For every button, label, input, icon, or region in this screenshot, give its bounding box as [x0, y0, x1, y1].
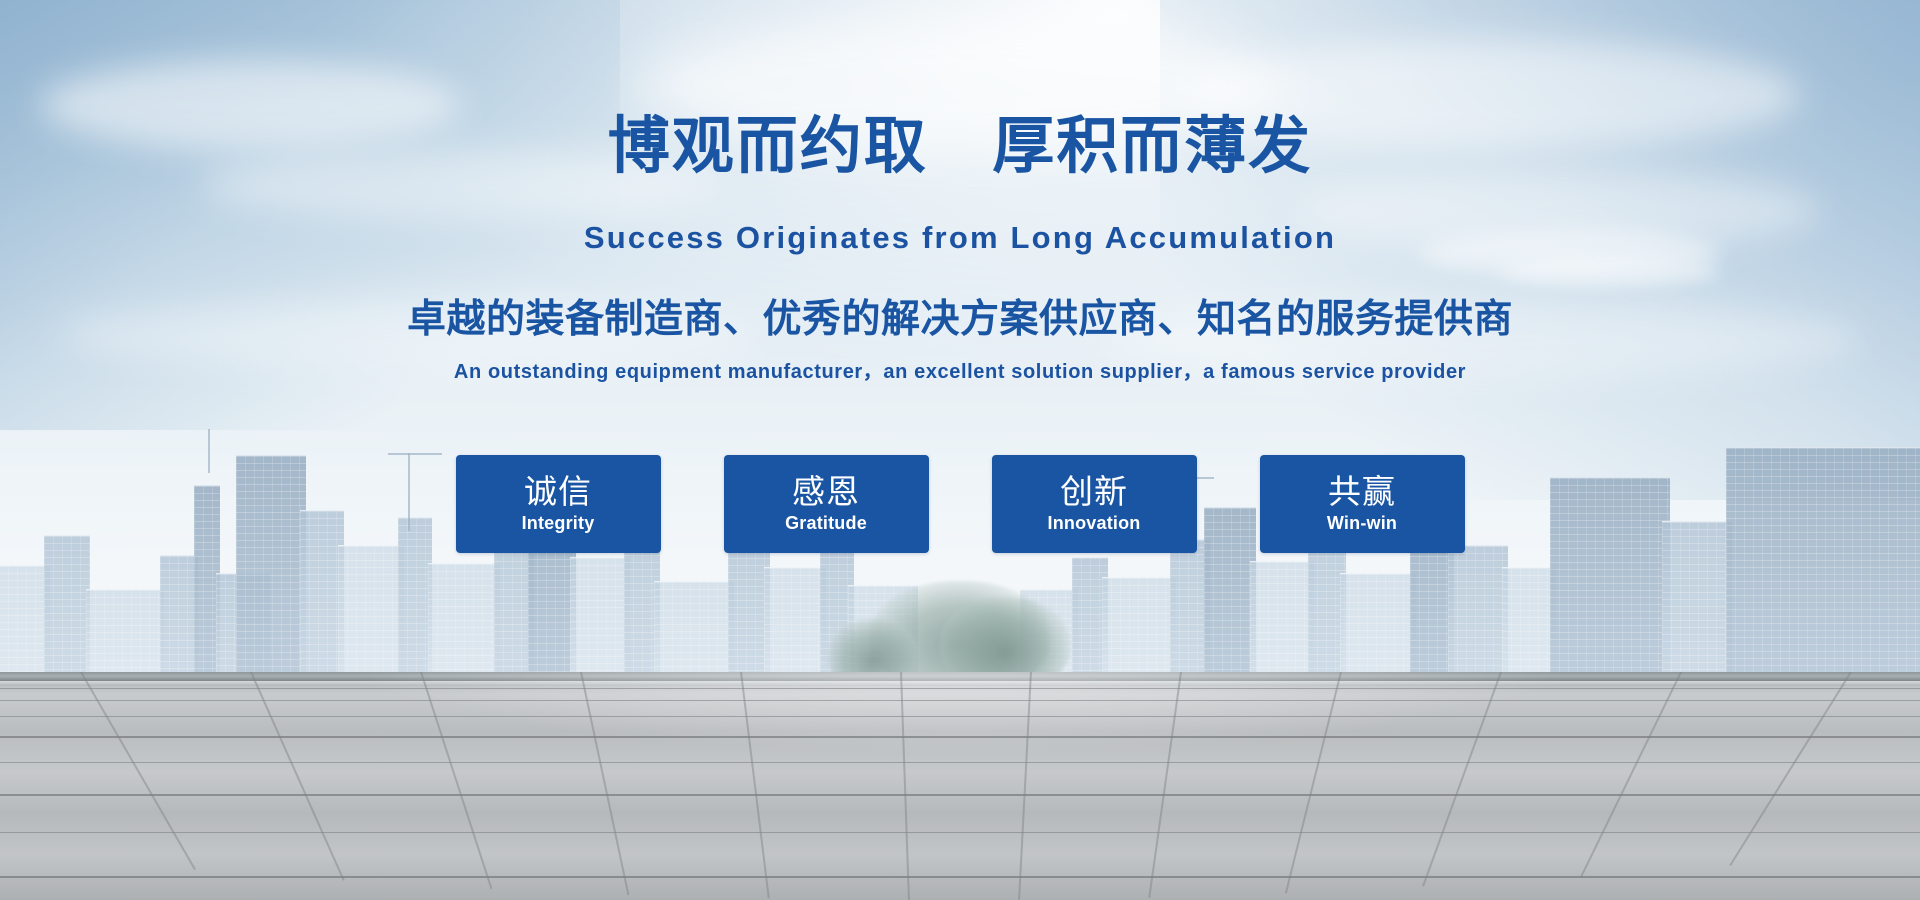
hero-banner: 博观而约取 厚积而薄发 Success Originates from Long…: [0, 0, 1920, 900]
value-card-innovation[interactable]: 创新 Innovation: [992, 455, 1197, 553]
banner-subtitle-en: An outstanding equipment manufacturer，an…: [0, 362, 1920, 382]
value-card-integrity[interactable]: 诚信 Integrity: [456, 455, 661, 553]
headline-cn-part2: 厚积而薄发: [992, 112, 1312, 181]
banner-headline-cn: 博观而约取 厚积而薄发: [0, 116, 1920, 178]
value-card-label-cn: 共赢: [1328, 474, 1396, 510]
headline-cn-part1: 博观而约取: [608, 112, 928, 181]
banner-content: 博观而约取 厚积而薄发 Success Originates from Long…: [0, 0, 1920, 900]
value-card-gratitude[interactable]: 感恩 Gratitude: [724, 455, 929, 553]
value-card-winwin[interactable]: 共赢 Win-win: [1260, 455, 1465, 553]
value-card-label-cn: 诚信: [524, 474, 592, 510]
banner-headline-en: Success Originates from Long Accumulatio…: [0, 222, 1920, 253]
banner-subtitle-cn: 卓越的装备制造商、优秀的解决方案供应商、知名的服务提供商: [0, 300, 1920, 339]
value-card-label-en: Innovation: [1048, 513, 1141, 535]
value-card-label-en: Win-win: [1327, 513, 1397, 535]
value-card-label-en: Gratitude: [785, 513, 867, 535]
value-card-label-cn: 感恩: [792, 474, 860, 510]
core-values-list: 诚信 Integrity 感恩 Gratitude 创新 Innovation …: [0, 455, 1920, 553]
value-card-label-en: Integrity: [522, 513, 595, 535]
value-card-label-cn: 创新: [1060, 474, 1128, 510]
